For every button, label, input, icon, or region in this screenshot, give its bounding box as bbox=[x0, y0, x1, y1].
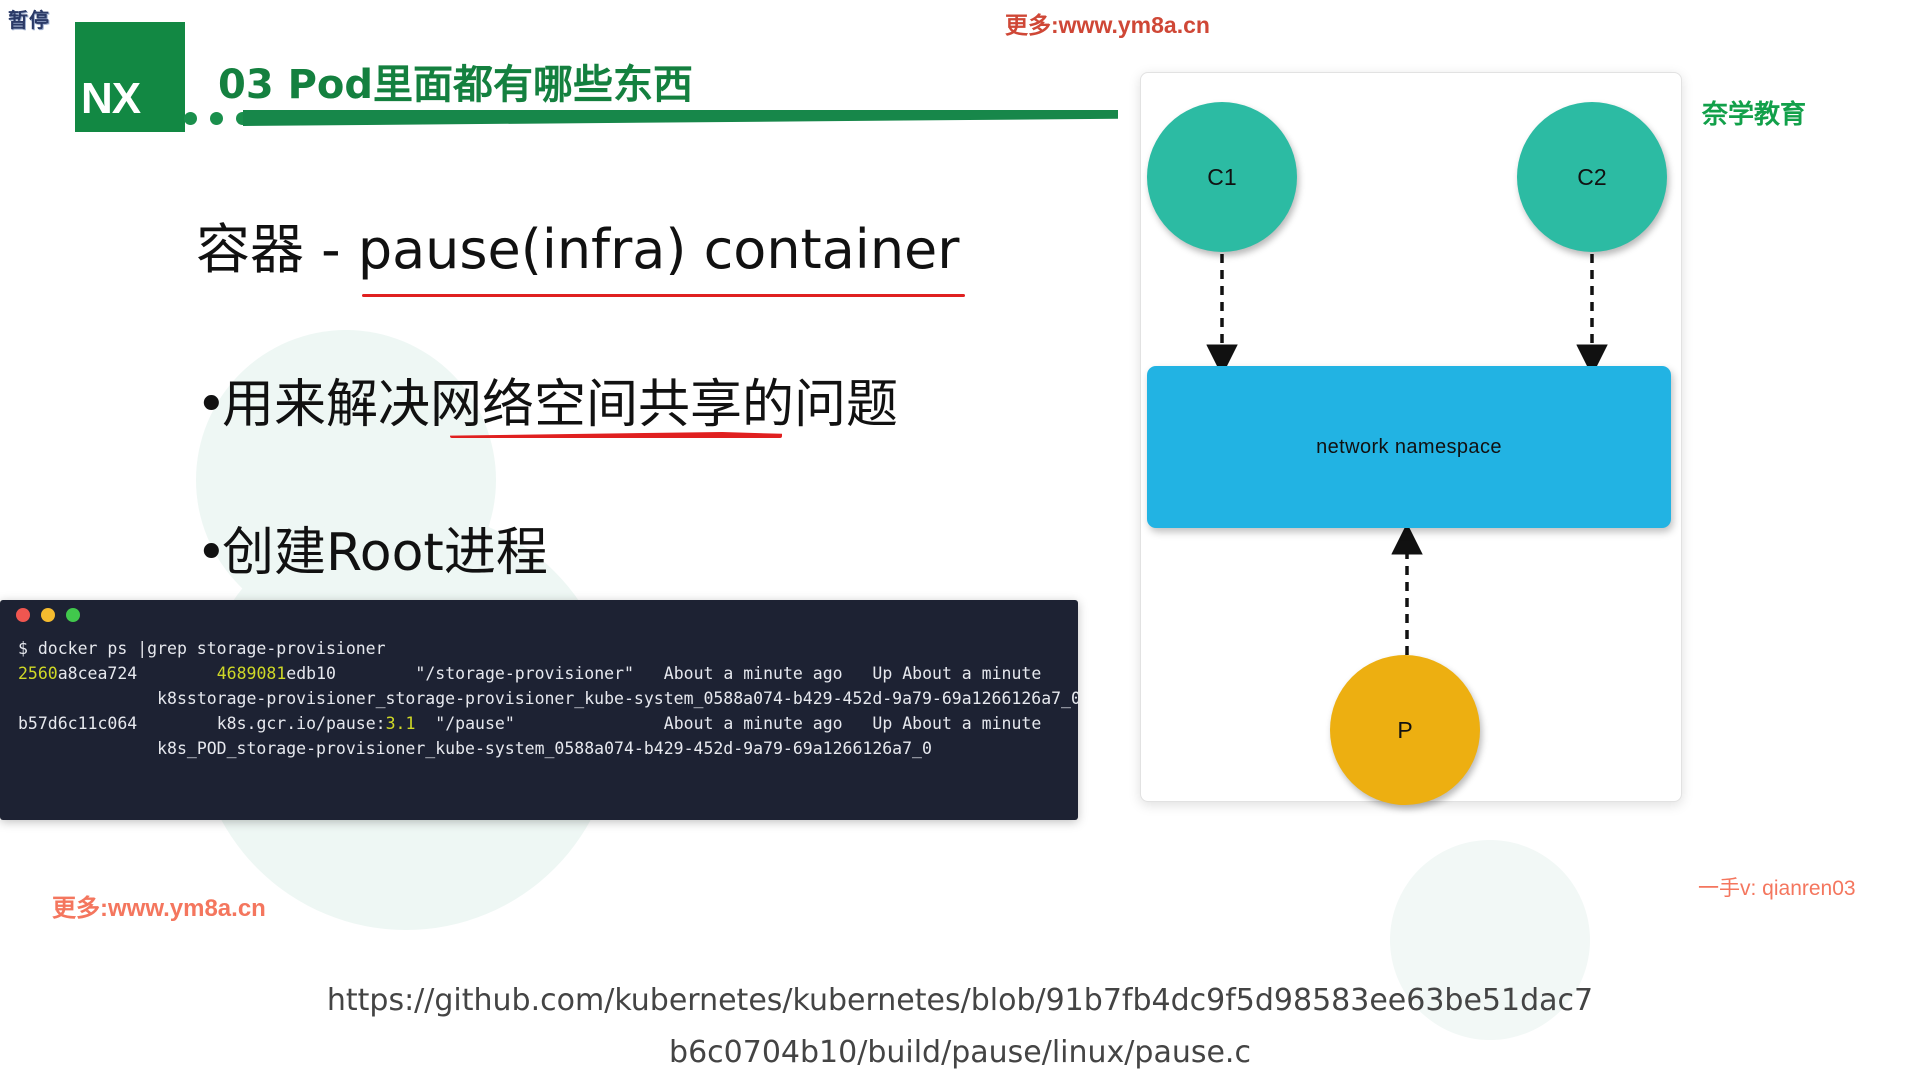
pause-badge: 暂停 bbox=[8, 4, 50, 33]
bullet-item-2: •创建Root进程 bbox=[196, 510, 548, 585]
pause-node[interactable]: P bbox=[1330, 655, 1480, 805]
container-node-c1[interactable]: C1 bbox=[1147, 102, 1297, 252]
container-node-label: C1 bbox=[1207, 164, 1236, 191]
container-node-label: C2 bbox=[1577, 164, 1606, 191]
logo-text: NX bbox=[81, 74, 140, 124]
pause-node-label: P bbox=[1397, 717, 1412, 744]
bullet-text: 用来解决网络空间共享的问题 bbox=[222, 375, 898, 435]
status-cell: Up About a minute bbox=[872, 664, 1041, 683]
container-name-2: k8s_POD_storage-provisioner_kube-system_… bbox=[157, 739, 932, 758]
created-cell-2: About a minute ago bbox=[664, 714, 843, 733]
slide-canvas: 暂停 NX 03 Pod里面都有哪些东西 更多:www.ym8a.cn 奈学教育… bbox=[0, 0, 1920, 1080]
lead-heading: 容器 - pause(infra) container bbox=[196, 205, 959, 284]
command-cell: "/storage-provisioner" bbox=[415, 664, 634, 683]
bullet-text: 创建Root进程 bbox=[222, 523, 548, 583]
lead-underline bbox=[362, 294, 965, 297]
container-id-rest: a8cea724 bbox=[58, 664, 137, 683]
source-url-line-1: https://github.com/kubernetes/kubernetes… bbox=[0, 975, 1920, 1027]
network-namespace-box[interactable]: network namespace bbox=[1147, 366, 1671, 528]
bullet-marker: • bbox=[196, 523, 222, 583]
container-id-2: b57d6c11c064 bbox=[18, 714, 137, 733]
source-url: https://github.com/kubernetes/kubernetes… bbox=[0, 975, 1920, 1079]
header-rule bbox=[243, 110, 1118, 126]
terminal-window: $ docker ps |grep storage-provisioner 25… bbox=[0, 600, 1078, 820]
created-cell: About a minute ago bbox=[664, 664, 843, 683]
command-cell-2: "/pause" bbox=[435, 714, 514, 733]
terminal-output[interactable]: $ docker ps |grep storage-provisioner 25… bbox=[0, 630, 1078, 761]
header-dot-1 bbox=[184, 112, 197, 125]
container-node-c2[interactable]: C2 bbox=[1517, 102, 1667, 252]
image-id-num: 4689081 bbox=[217, 664, 287, 683]
image-id-rest: edb10 bbox=[286, 664, 336, 683]
container-id-num: 2560 bbox=[18, 664, 58, 683]
terminal-titlebar bbox=[0, 600, 1078, 630]
header-dots bbox=[184, 112, 249, 125]
close-icon[interactable] bbox=[16, 608, 30, 622]
watermark-bottom-right: 一手v: qianren03 bbox=[1698, 872, 1856, 902]
watermark-bottom-left: 更多:www.ym8a.cn bbox=[52, 888, 266, 923]
container-name-1: k8sstorage-provisioner_storage-provision… bbox=[157, 689, 1078, 708]
image-tag: 3.1 bbox=[386, 714, 416, 733]
terminal-prompt-line: $ docker ps |grep storage-provisioner bbox=[18, 639, 386, 658]
header-dot-2 bbox=[210, 112, 223, 125]
image-ref-prefix: k8s.gcr.io/pause: bbox=[217, 714, 386, 733]
maximize-icon[interactable] bbox=[66, 608, 80, 622]
status-cell-2: Up About a minute bbox=[872, 714, 1041, 733]
bullet-marker: • bbox=[196, 375, 222, 435]
network-namespace-label: network namespace bbox=[1316, 436, 1502, 459]
watermark-top: 更多:www.ym8a.cn bbox=[1005, 6, 1210, 40]
brand-label: 奈学教育 bbox=[1702, 94, 1806, 131]
bullet-item-1: •用来解决网络空间共享的问题 bbox=[196, 362, 898, 437]
minimize-icon[interactable] bbox=[41, 608, 55, 622]
page-title: 03 Pod里面都有哪些东西 bbox=[218, 52, 693, 110]
logo-block: NX bbox=[75, 22, 185, 132]
source-url-line-2: b6c0704b10/build/pause/linux/pause.c bbox=[0, 1027, 1920, 1079]
